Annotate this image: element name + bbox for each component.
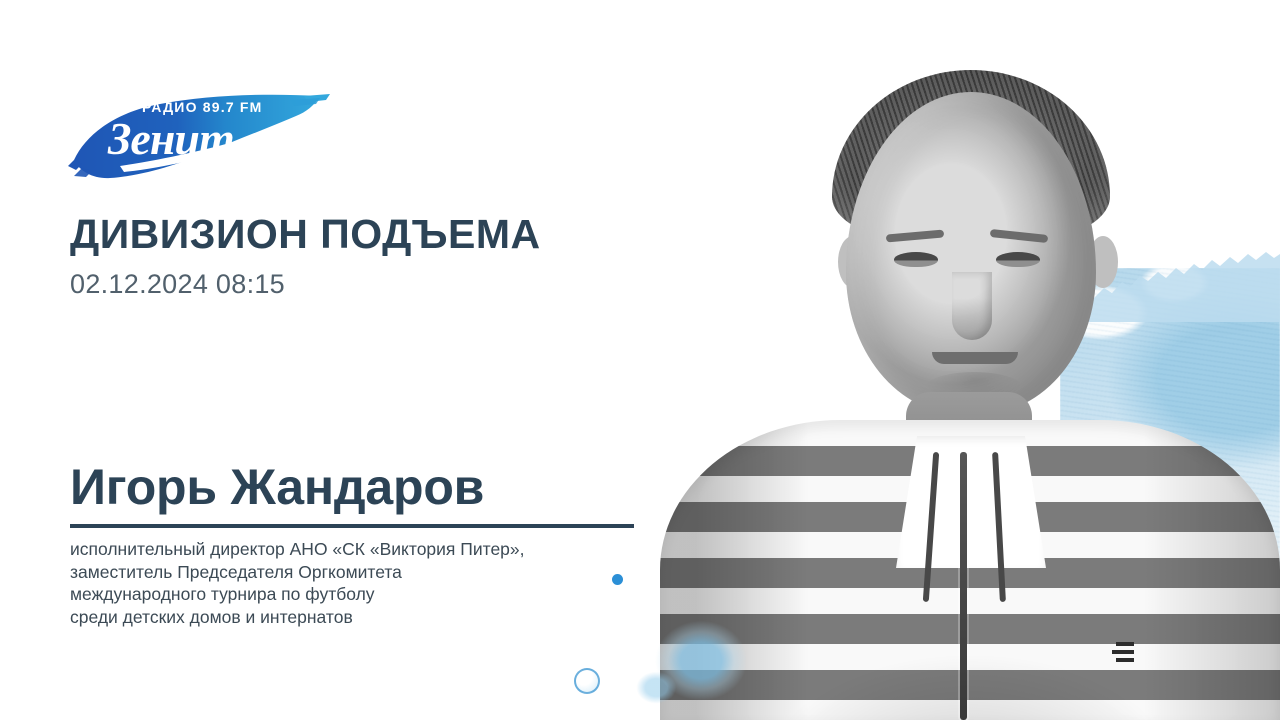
hoodie-zipper bbox=[960, 452, 967, 720]
show-datetime: 02.12.2024 08:15 bbox=[70, 271, 285, 298]
portrait-nose bbox=[952, 272, 992, 340]
guest-role-line: заместитель Председателя Оргкомитета bbox=[70, 561, 710, 584]
guest-role-line: международного турнира по футболу bbox=[70, 583, 710, 606]
portrait-eye-right bbox=[996, 252, 1040, 267]
guest-name: Игорь Жандаров bbox=[70, 462, 484, 512]
show-title: ДИВИЗИОН ПОДЪЕМА bbox=[70, 214, 541, 255]
guest-photo-panel bbox=[660, 0, 1280, 720]
hoodie-brand-logo-icon bbox=[1112, 642, 1134, 662]
portrait-eye-left bbox=[894, 252, 938, 267]
guest-role-line: среди детских домов и интернатов bbox=[70, 606, 710, 629]
info-panel: РАДИО 89.7 FM Зенит ДИВИЗИОН ПОДЪЕМА 02.… bbox=[0, 0, 700, 720]
portrait-mouth bbox=[932, 352, 1018, 364]
zenit-radio-logo[interactable]: РАДИО 89.7 FM Зенит bbox=[68, 82, 330, 192]
guest-role-line: исполнительный директор АНО «СК «Виктори… bbox=[70, 538, 710, 561]
logo-wordmark: Зенит bbox=[107, 113, 234, 164]
name-underline-divider bbox=[70, 524, 634, 528]
guest-role: исполнительный директор АНО «СК «Виктори… bbox=[70, 538, 710, 628]
broadcast-announcement-card: РАДИО 89.7 FM Зенит ДИВИЗИОН ПОДЪЕМА 02.… bbox=[0, 0, 1280, 720]
guest-portrait bbox=[660, 0, 1280, 720]
portrait-tshirt bbox=[896, 436, 1046, 568]
